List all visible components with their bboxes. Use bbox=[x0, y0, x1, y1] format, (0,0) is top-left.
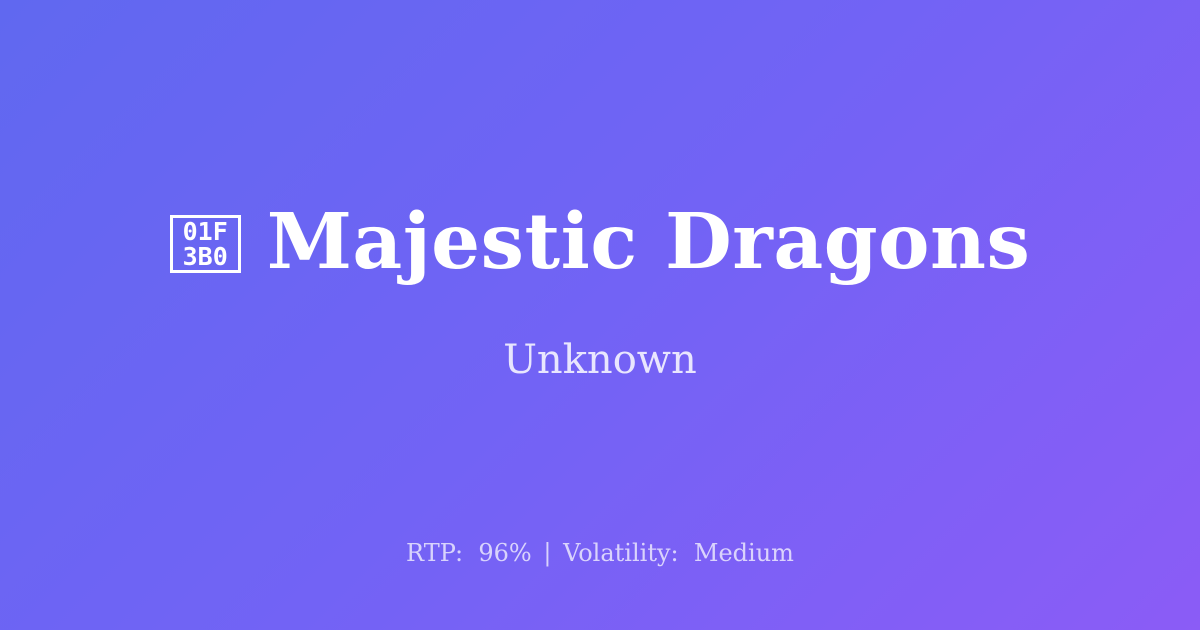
title-row: 01F 3B0 Majestic Dragons bbox=[170, 202, 1031, 283]
og-card: 01F 3B0 Majestic Dragons Unknown RTP: 96… bbox=[0, 0, 1200, 630]
rtp-label: RTP: bbox=[406, 539, 463, 567]
meta-separator: | bbox=[539, 539, 555, 567]
page-title: Majestic Dragons bbox=[267, 202, 1031, 283]
game-meta: RTP: 96% | Volatility: Medium bbox=[0, 539, 1200, 568]
volatility-value: Medium bbox=[694, 539, 794, 567]
tofu-hex-top: 01F bbox=[183, 219, 228, 244]
provider-label: Unknown bbox=[503, 336, 697, 384]
tofu-hex-bottom: 3B0 bbox=[183, 244, 228, 269]
slot-machine-emoji-tofu-icon: 01F 3B0 bbox=[170, 215, 241, 273]
hero-block: 01F 3B0 Majestic Dragons Unknown bbox=[0, 0, 1200, 630]
volatility-label: Volatility: bbox=[563, 539, 679, 567]
rtp-value: 96% bbox=[478, 539, 531, 567]
